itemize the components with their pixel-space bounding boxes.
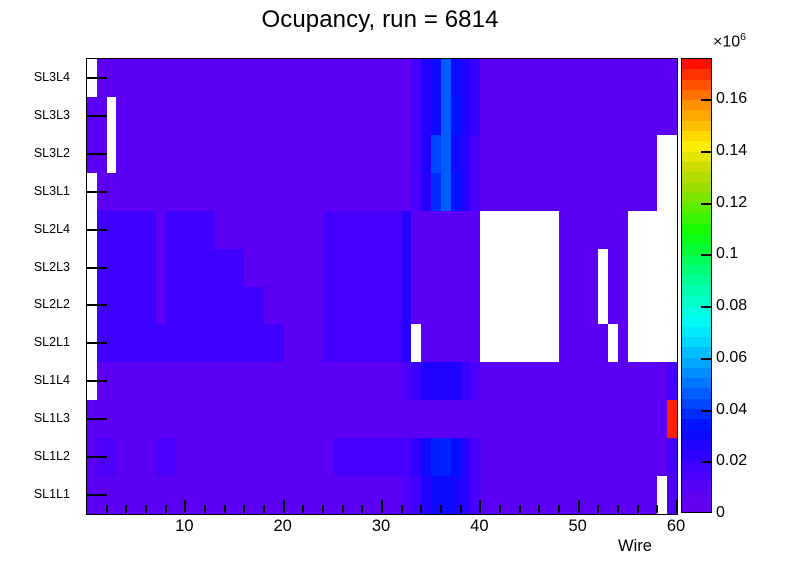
heatmap-cell [500, 249, 510, 287]
y-axis-tick-label: SL1L2 [34, 449, 70, 463]
heatmap-cell [598, 438, 608, 476]
heatmap-cell [638, 476, 648, 514]
heatmap-cell [382, 97, 392, 135]
heatmap-cell [411, 211, 421, 249]
heatmap-cell [264, 438, 274, 476]
x-axis-minor-tick [224, 505, 226, 513]
heatmap-cell [107, 59, 117, 97]
colorbar-segment [682, 183, 711, 193]
heatmap-cell [411, 135, 421, 173]
heatmap-cell [343, 97, 353, 135]
heatmap-cell [254, 287, 264, 325]
heatmap-cell [313, 362, 323, 400]
heatmap-grid[interactable] [87, 59, 677, 514]
heatmap-cell [215, 324, 225, 362]
heatmap-cell [333, 173, 343, 211]
colorbar-segment [682, 285, 711, 295]
heatmap-cell [667, 438, 677, 476]
heatmap-cell [225, 173, 235, 211]
heatmap-cell [244, 249, 254, 287]
heatmap-cell [529, 97, 539, 135]
heatmap-cell [470, 287, 480, 325]
heatmap-cell [362, 59, 372, 97]
heatmap-cell [234, 400, 244, 438]
heatmap-cell [441, 400, 451, 438]
heatmap-cell [402, 97, 412, 135]
heatmap-cell [657, 59, 667, 97]
heatmap-cell [411, 59, 421, 97]
heatmap-cell [480, 173, 490, 211]
x-axis-minor-tick [656, 505, 658, 513]
heatmap-cell [107, 173, 117, 211]
heatmap-cell [175, 97, 185, 135]
heatmap-cell [529, 438, 539, 476]
heatmap-cell [628, 438, 638, 476]
heatmap-cell [520, 59, 530, 97]
heatmap-cell [234, 249, 244, 287]
heatmap-cell [539, 362, 549, 400]
heatmap-cell [156, 287, 166, 325]
heatmap-cell [549, 173, 559, 211]
heatmap-cell [244, 287, 254, 325]
heatmap-cell [195, 324, 205, 362]
heatmap-cell [510, 400, 520, 438]
heatmap-cell [480, 97, 490, 135]
heatmap-cell [146, 287, 156, 325]
heatmap-cell [284, 438, 294, 476]
heatmap-cell [284, 362, 294, 400]
heatmap-cell [382, 362, 392, 400]
colorbar-segment [682, 59, 711, 69]
heatmap-cell [284, 287, 294, 325]
y-axis-tick-label: SL3L4 [34, 70, 70, 84]
heatmap-cell [284, 97, 294, 135]
heatmap-cell [480, 400, 490, 438]
heatmap-cell [126, 438, 136, 476]
heatmap-cell [205, 173, 215, 211]
heatmap-cell [559, 97, 569, 135]
heatmap-cell [215, 97, 225, 135]
x-axis-major-tick [578, 500, 580, 513]
heatmap-cell [461, 438, 471, 476]
heatmap-cell [195, 438, 205, 476]
heatmap-cell [333, 287, 343, 325]
colorbar-segment [682, 419, 711, 429]
heatmap-cell [569, 135, 579, 173]
heatmap-cell [441, 438, 451, 476]
x-axis-tick-label: 60 [667, 517, 685, 536]
heatmap-cell [392, 135, 402, 173]
heatmap-cell [205, 438, 215, 476]
heatmap-cell [490, 135, 500, 173]
heatmap-cell [185, 97, 195, 135]
heatmap-cell [608, 438, 618, 476]
heatmap-cell [303, 287, 313, 325]
heatmap-cell [352, 324, 362, 362]
heatmap-cell [549, 135, 559, 173]
x-axis-minor-tick [204, 505, 206, 513]
heatmap-cell [274, 362, 284, 400]
colorbar-segment [682, 110, 711, 120]
heatmap-cell [234, 135, 244, 173]
heatmap-cell [116, 211, 126, 249]
heatmap-cell [461, 362, 471, 400]
heatmap-cell [657, 135, 667, 173]
y-axis-labels: SL3L4SL3L3SL3L2SL3L1SL2L4SL2L3SL2L2SL2L1… [0, 58, 78, 513]
heatmap-cell [166, 476, 176, 514]
heatmap-cell [500, 476, 510, 514]
heatmap-cell [559, 59, 569, 97]
heatmap-cell [323, 211, 333, 249]
heatmap-cell [244, 438, 254, 476]
y-axis-tick-label: SL2L4 [34, 222, 70, 236]
heatmap-cell [166, 400, 176, 438]
heatmap-cell [215, 59, 225, 97]
heatmap-cell [421, 362, 431, 400]
heatmap-cell [598, 135, 608, 173]
heatmap-cell [264, 362, 274, 400]
heatmap-cell [362, 476, 372, 514]
heatmap-cell [421, 59, 431, 97]
heatmap-cell [107, 97, 117, 135]
heatmap-cell [579, 211, 589, 249]
x-axis-major-tick [381, 500, 383, 513]
heatmap-cell [392, 97, 402, 135]
heatmap-cell [284, 400, 294, 438]
heatmap-cell [647, 362, 657, 400]
heatmap-cell [657, 97, 667, 135]
heatmap-cell [156, 362, 166, 400]
heatmap-cell [362, 324, 372, 362]
heatmap-cell [470, 438, 480, 476]
heatmap-cell [470, 211, 480, 249]
heatmap-cell [588, 249, 598, 287]
y-axis-tick-label: SL1L3 [34, 411, 70, 425]
heatmap-cell [598, 211, 608, 249]
heatmap-cell [215, 400, 225, 438]
heatmap-cell [628, 173, 638, 211]
colorbar-segment [682, 502, 711, 512]
y-axis-tick-label: SL1L1 [34, 487, 70, 501]
heatmap-cell [579, 59, 589, 97]
heatmap-cell [618, 135, 628, 173]
heatmap-cell [126, 97, 136, 135]
heatmap-cell [618, 97, 628, 135]
heatmap-cell [284, 324, 294, 362]
heatmap-cell [362, 287, 372, 325]
colorbar[interactable]: 00.020.040.060.080.10.120.140.16 [681, 58, 712, 513]
heatmap-cell [195, 400, 205, 438]
heatmap-cell [569, 59, 579, 97]
heatmap-cell [638, 249, 648, 287]
heatmap-cell [274, 324, 284, 362]
heatmap-cell [480, 59, 490, 97]
heatmap-cell [303, 400, 313, 438]
heatmap-cell [136, 249, 146, 287]
heatmap-cell [116, 400, 126, 438]
heatmap-cell [352, 287, 362, 325]
heatmap-cell [254, 438, 264, 476]
heatmap-cell [352, 135, 362, 173]
heatmap-cell [510, 362, 520, 400]
heatmap-cell [166, 324, 176, 362]
heatmap-cell [175, 287, 185, 325]
heatmap-cell [431, 97, 441, 135]
heatmap-cell [166, 211, 176, 249]
heatmap-cell [588, 400, 598, 438]
heatmap-cell [382, 59, 392, 97]
heatmap-cell [382, 249, 392, 287]
heatmap-cell [638, 135, 648, 173]
heatmap-cell [431, 400, 441, 438]
heatmap-cell [490, 211, 500, 249]
y-axis-tick-label: SL3L2 [34, 146, 70, 160]
heatmap-cell [205, 287, 215, 325]
x-axis-major-tick [283, 500, 285, 513]
heatmap-cell [451, 400, 461, 438]
heatmap-cell [87, 59, 97, 97]
heatmap-cell [638, 362, 648, 400]
heatmap-cell [520, 97, 530, 135]
heatmap-cell [293, 249, 303, 287]
heatmap-cell [628, 287, 638, 325]
heatmap-cell [588, 362, 598, 400]
heatmap-cell [195, 59, 205, 97]
y-axis-tick-label: SL2L3 [34, 260, 70, 274]
heatmap-cell [205, 400, 215, 438]
heatmap-cell [451, 287, 461, 325]
heatmap-cell [549, 287, 559, 325]
colorbar-segment [682, 152, 711, 162]
heatmap-cell [402, 249, 412, 287]
heatmap-cell [470, 324, 480, 362]
heatmap-cell [254, 249, 264, 287]
heatmap-cell [156, 173, 166, 211]
heatmap-cell [647, 249, 657, 287]
colorbar-tick-label: 0 [716, 504, 725, 522]
heatmap-cell [97, 438, 107, 476]
colorbar-segment [682, 378, 711, 388]
heatmap-cell [303, 211, 313, 249]
colorbar-tick-mark [701, 358, 712, 360]
heatmap-cell [382, 400, 392, 438]
heatmap-cell [500, 211, 510, 249]
heatmap-cell [303, 173, 313, 211]
heatmap-cell [244, 97, 254, 135]
heatmap-cell [195, 173, 205, 211]
heatmap-cell [274, 249, 284, 287]
page-title: Ocupancy, run = 6814 [0, 6, 760, 34]
heatmap-cell [647, 400, 657, 438]
colorbar-tick-label: 0.04 [716, 401, 747, 419]
heatmap-cell [411, 324, 421, 362]
heatmap-cell [97, 135, 107, 173]
heatmap-cell [205, 59, 215, 97]
heatmap-cell [598, 287, 608, 325]
heatmap-cell [107, 324, 117, 362]
heatmap-cell [254, 135, 264, 173]
heatmap-cell [480, 135, 490, 173]
x-axis-tick-label: 40 [470, 517, 488, 536]
heatmap-cell [87, 324, 97, 362]
heatmap-cell [185, 211, 195, 249]
heatmap-cell [461, 97, 471, 135]
colorbar-segment [682, 80, 711, 90]
colorbar-segment [682, 162, 711, 172]
y-axis-tick-label: SL3L3 [34, 108, 70, 122]
heatmap-cell [411, 287, 421, 325]
heatmap-cell [402, 324, 412, 362]
heatmap-cell [667, 249, 677, 287]
heatmap-cell [618, 362, 628, 400]
heatmap-cell [431, 324, 441, 362]
heatmap-cell [579, 324, 589, 362]
heatmap-cell [116, 324, 126, 362]
heatmap-cell [87, 211, 97, 249]
heatmap-cell [667, 97, 677, 135]
heatmap-cell [303, 97, 313, 135]
heatmap-cell [392, 211, 402, 249]
heatmap-cell [608, 287, 618, 325]
heatmap-cell [529, 362, 539, 400]
heatmap-cell [382, 135, 392, 173]
heatmap-cell [402, 476, 412, 514]
heatmap-cell [579, 135, 589, 173]
heatmap-cell [293, 135, 303, 173]
heatmap-cell [569, 173, 579, 211]
heatmap-cell [284, 135, 294, 173]
heatmap-cell [392, 400, 402, 438]
heatmap-cell [539, 287, 549, 325]
heatmap-cell [441, 211, 451, 249]
heatmap-cell [647, 135, 657, 173]
heatmap-cell [431, 135, 441, 173]
colorbar-segment [682, 296, 711, 306]
colorbar-tick-mark [701, 410, 712, 412]
heatmap-cell [588, 135, 598, 173]
heatmap-cell [520, 211, 530, 249]
heatmap-cell [333, 211, 343, 249]
heatmap-cell [323, 438, 333, 476]
heatmap-cell [126, 287, 136, 325]
heatmap-cell [559, 287, 569, 325]
x-axis-minor-tick [342, 505, 344, 513]
heatmap-cell [352, 173, 362, 211]
heatmap-cell [313, 59, 323, 97]
heatmap-cell [234, 287, 244, 325]
heatmap-cell [352, 211, 362, 249]
heatmap-cell [372, 438, 382, 476]
heatmap-cell [116, 249, 126, 287]
heatmap-cell [510, 173, 520, 211]
heatmap-cell [451, 362, 461, 400]
heatmap-cell [451, 135, 461, 173]
heatmap-cell [559, 324, 569, 362]
heatmap-cell [146, 476, 156, 514]
heatmap-cell [520, 287, 530, 325]
heatmap-cell [244, 476, 254, 514]
heatmap-cell [126, 249, 136, 287]
heatmap-cell [647, 211, 657, 249]
x-axis-ticks: 102030405060 [86, 513, 676, 543]
heatmap-cell [274, 173, 284, 211]
heatmap-cell [520, 173, 530, 211]
heatmap-cell [647, 97, 657, 135]
heatmap-cell [490, 400, 500, 438]
heatmap-cell [362, 211, 372, 249]
heatmap-cell [87, 476, 97, 514]
heatmap-cell [126, 324, 136, 362]
heatmap-cell [588, 324, 598, 362]
x-axis-minor-tick [165, 505, 167, 513]
heatmap-cell [470, 59, 480, 97]
heatmap-cell [225, 400, 235, 438]
x-axis-tick-label: 30 [372, 517, 390, 536]
heatmap-cell [293, 173, 303, 211]
heatmap-cell [185, 59, 195, 97]
heatmap-cell [608, 362, 618, 400]
heatmap-cell [166, 249, 176, 287]
heatmap-cell [215, 173, 225, 211]
heatmap-cell [579, 476, 589, 514]
heatmap-cell [372, 362, 382, 400]
heatmap-cell [402, 287, 412, 325]
heatmap-cell [451, 438, 461, 476]
heatmap-cell [480, 211, 490, 249]
colorbar-tick-label: 0.1 [716, 245, 738, 263]
heatmap-cell [382, 287, 392, 325]
heatmap-cell [647, 287, 657, 325]
heatmap-cell [402, 362, 412, 400]
heatmap-cell [559, 476, 569, 514]
heatmap-cell [480, 476, 490, 514]
heatmap-cell [618, 249, 628, 287]
heatmap-cell [215, 287, 225, 325]
heatmap-cell [107, 135, 117, 173]
colorbar-segment [682, 399, 711, 409]
heatmap-cell [618, 173, 628, 211]
heatmap-cell [470, 249, 480, 287]
heatmap-cell [362, 438, 372, 476]
heatmap-cell [87, 249, 97, 287]
heatmap-cell [313, 173, 323, 211]
heatmap-cell [195, 211, 205, 249]
heatmap-cell [421, 249, 431, 287]
heatmap-cell [382, 438, 392, 476]
heatmap-cell [293, 362, 303, 400]
heatmap-cell [205, 324, 215, 362]
heatmap-cell [392, 438, 402, 476]
heatmap-cell [638, 59, 648, 97]
heatmap-cell [618, 438, 628, 476]
heatmap-cell [667, 59, 677, 97]
heatmap-cell [382, 173, 392, 211]
heatmap-cell [431, 287, 441, 325]
heatmap-cell [107, 400, 117, 438]
heatmap-cell [166, 287, 176, 325]
heatmap-cell [628, 211, 638, 249]
heatmap-cell [303, 438, 313, 476]
heatmap-cell [343, 59, 353, 97]
heatmap-cell [175, 135, 185, 173]
heatmap-cell [156, 59, 166, 97]
heatmap-cell [608, 211, 618, 249]
heatmap-cell [215, 438, 225, 476]
heatmap-cell [539, 476, 549, 514]
heatmap-cell [244, 362, 254, 400]
heatmap-cell [97, 249, 107, 287]
heatmap-cell [372, 97, 382, 135]
